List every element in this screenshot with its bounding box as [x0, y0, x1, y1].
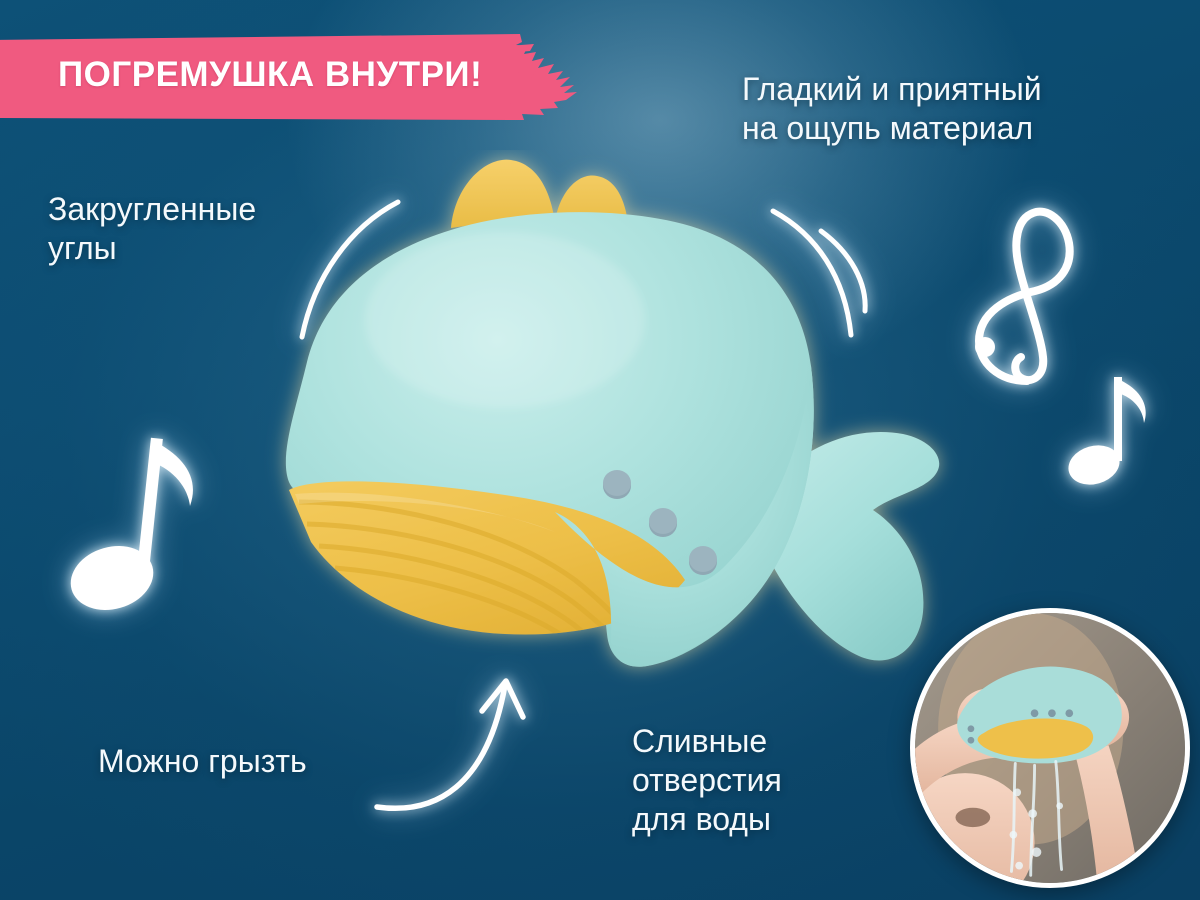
music-note-left-icon — [60, 430, 245, 625]
callout-chewable: Можно грызть — [98, 742, 307, 781]
callout-drain-holes: Сливные отверстия для воды — [632, 722, 782, 839]
callout-smooth-material: Гладкий и приятный на ощупь материал — [742, 70, 1042, 148]
music-note-right-icon — [1060, 365, 1165, 495]
whale-bath-toy-illustration — [255, 150, 975, 695]
inset-photo-baby-with-toy — [910, 608, 1190, 888]
banner-label: ПОГРЕМУШКА ВНУТРИ! — [58, 55, 482, 95]
infographic-canvas: ПОГРЕМУШКА ВНУТРИ! Закругленные углы Гла… — [0, 0, 1200, 900]
callout-rounded-corners: Закругленные углы — [48, 190, 256, 268]
treble-clef-icon — [955, 185, 1105, 385]
inset-photo-illustration — [915, 613, 1185, 883]
rattle-inside-banner: ПОГРЕМУШКА ВНУТРИ! — [0, 30, 628, 122]
